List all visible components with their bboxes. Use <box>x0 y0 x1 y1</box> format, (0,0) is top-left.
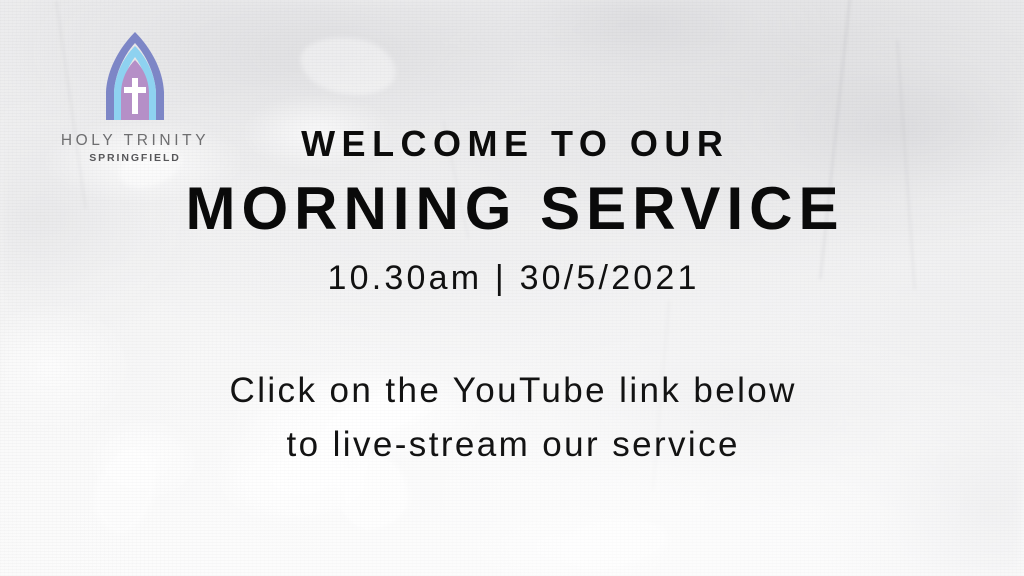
headline-block: WELCOME TO OUR MORNING SERVICE 10.30am |… <box>0 126 1024 295</box>
instruction-block: Click on the YouTube link below to live-… <box>0 373 1024 462</box>
welcome-eyebrow-heading: WELCOME TO OUR <box>0 126 1024 162</box>
instruction-line-2: to live-stream our service <box>0 427 1024 462</box>
paint-fleck <box>297 32 400 101</box>
church-arch-cross-icon <box>97 30 173 122</box>
service-datetime: 10.30am | 30/5/2021 <box>0 261 1024 295</box>
service-title-heading: MORNING SERVICE <box>0 179 1024 239</box>
presentation-slide: HOLY TRINITY SPRINGFIELD WELCOME TO OUR … <box>0 0 1024 576</box>
logo-cross-vertical <box>132 78 138 114</box>
instruction-line-1: Click on the YouTube link below <box>0 373 1024 408</box>
logo-cross-horizontal <box>124 87 146 93</box>
paint-fleck <box>558 516 671 572</box>
